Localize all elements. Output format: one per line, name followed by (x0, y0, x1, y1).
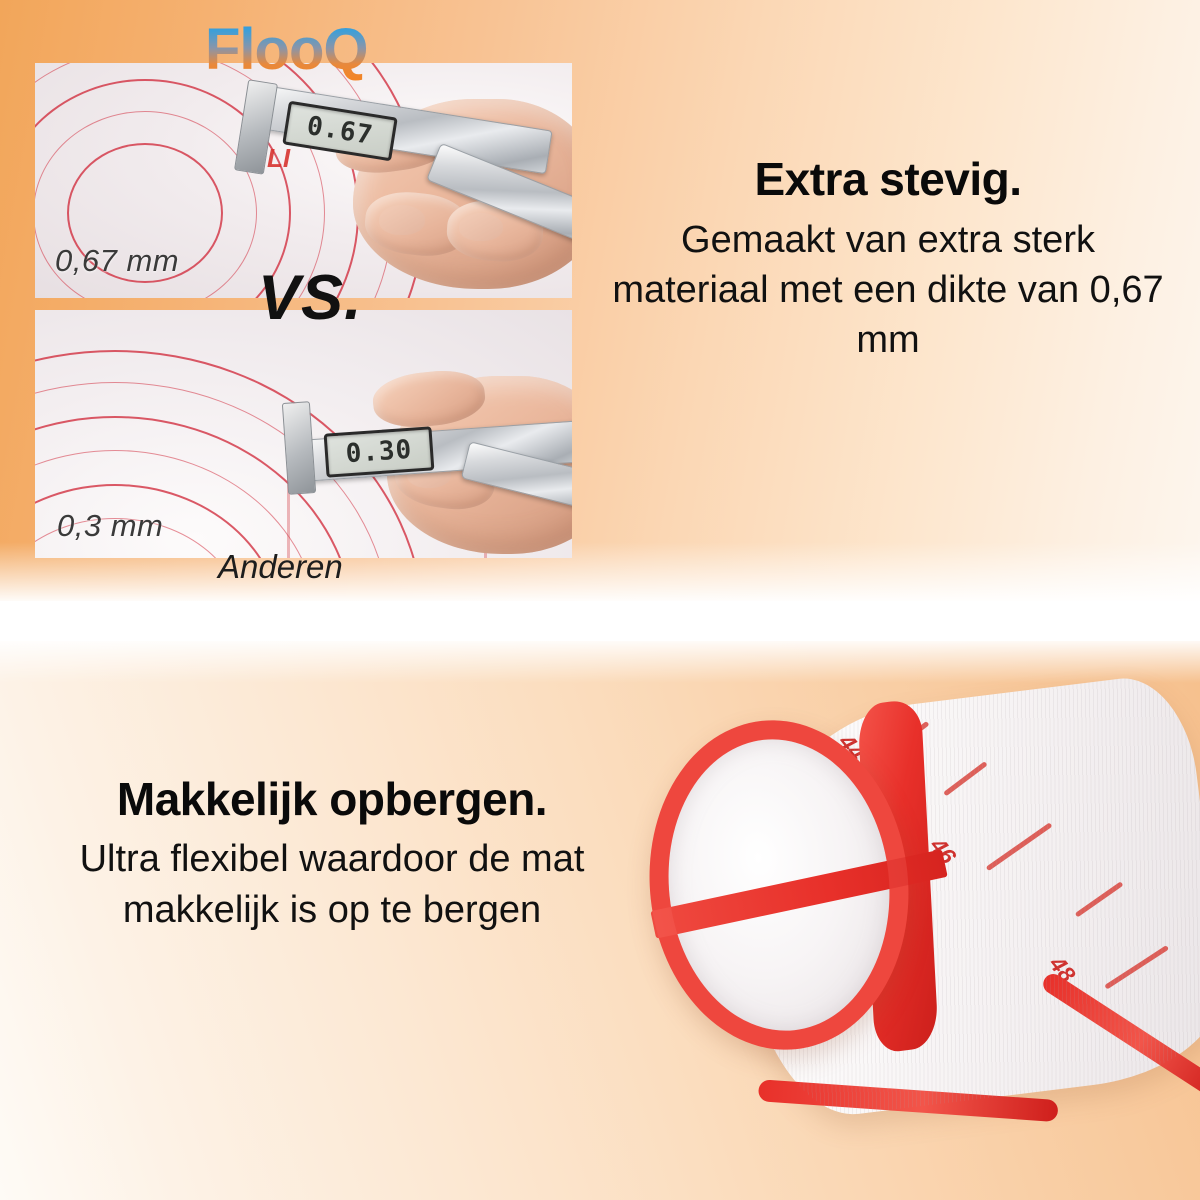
photo-other-mat: 0.30 0,3 mm (35, 310, 572, 558)
brand-logo: FlooQ (205, 16, 368, 83)
fingernail2-ours (459, 213, 503, 241)
mat-brand-mark-ours: LI (267, 143, 290, 174)
bottom-heading: Makkelijk opbergen. (18, 772, 646, 826)
product-feature-poster: FlooQ LI (0, 0, 1200, 1200)
mat-inner-stripe (650, 849, 947, 938)
top-copy-block: Extra stevig. Gemaakt van extra sterk ma… (600, 152, 1176, 365)
others-label: Anderen (218, 548, 343, 586)
bottom-body-text: Ultra flexibel waardoor de mat makkelijk… (18, 834, 646, 936)
mat-red-edge-right (1039, 970, 1200, 1101)
rolled-mat-illustration: 44 46 48 (620, 680, 1200, 1150)
top-heading: Extra stevig. (600, 152, 1176, 206)
top-feature-panel: FlooQ LI (0, 0, 1200, 612)
thickness-label-ours: 0,67 mm (55, 243, 179, 279)
ruler-number-48: 48 (1044, 951, 1081, 988)
panel-divider (0, 601, 1200, 641)
fingernail-ours (379, 205, 425, 235)
bottom-copy-block: Makkelijk opbergen. Ultra flexibel waard… (18, 772, 646, 936)
caliper-reading-theirs: 0.30 (345, 435, 414, 470)
mat-red-edge-bottom (758, 1079, 1059, 1122)
caliper-display-theirs: 0.30 (324, 426, 435, 477)
thickness-label-theirs: 0,3 mm (57, 508, 163, 544)
caliper-reading-ours: 0.67 (305, 111, 375, 151)
top-body-text: Gemaakt van extra sterk materiaal met ee… (600, 215, 1176, 365)
vs-label: VS. (258, 262, 363, 334)
